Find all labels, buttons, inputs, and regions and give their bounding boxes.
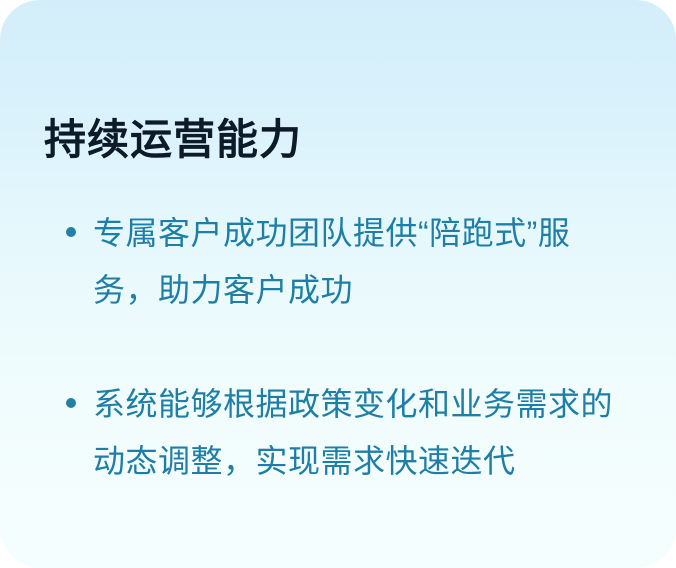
content-card: 持续运营能力 专属客户成功团队提供“陪跑式”服务，助力客户成功 系统能够根据政策… xyxy=(0,0,676,568)
feature-bullet-list: 专属客户成功团队提供“陪跑式”服务，助力客户成功 系统能够根据政策变化和业务需求… xyxy=(60,205,636,490)
list-item: 专属客户成功团队提供“陪跑式”服务，助力客户成功 xyxy=(60,205,636,319)
bullet-dot-icon xyxy=(66,227,76,237)
list-item-label: 专属客户成功团队提供“陪跑式”服务，助力客户成功 xyxy=(93,205,613,319)
list-item: 系统能够根据政策变化和业务需求的动态调整，实现需求快速迭代 xyxy=(60,376,636,490)
bullet-dot-icon xyxy=(66,398,76,408)
list-item-label: 系统能够根据政策变化和业务需求的动态调整，实现需求快速迭代 xyxy=(93,376,613,490)
page-title: 持续运营能力 xyxy=(44,112,302,168)
